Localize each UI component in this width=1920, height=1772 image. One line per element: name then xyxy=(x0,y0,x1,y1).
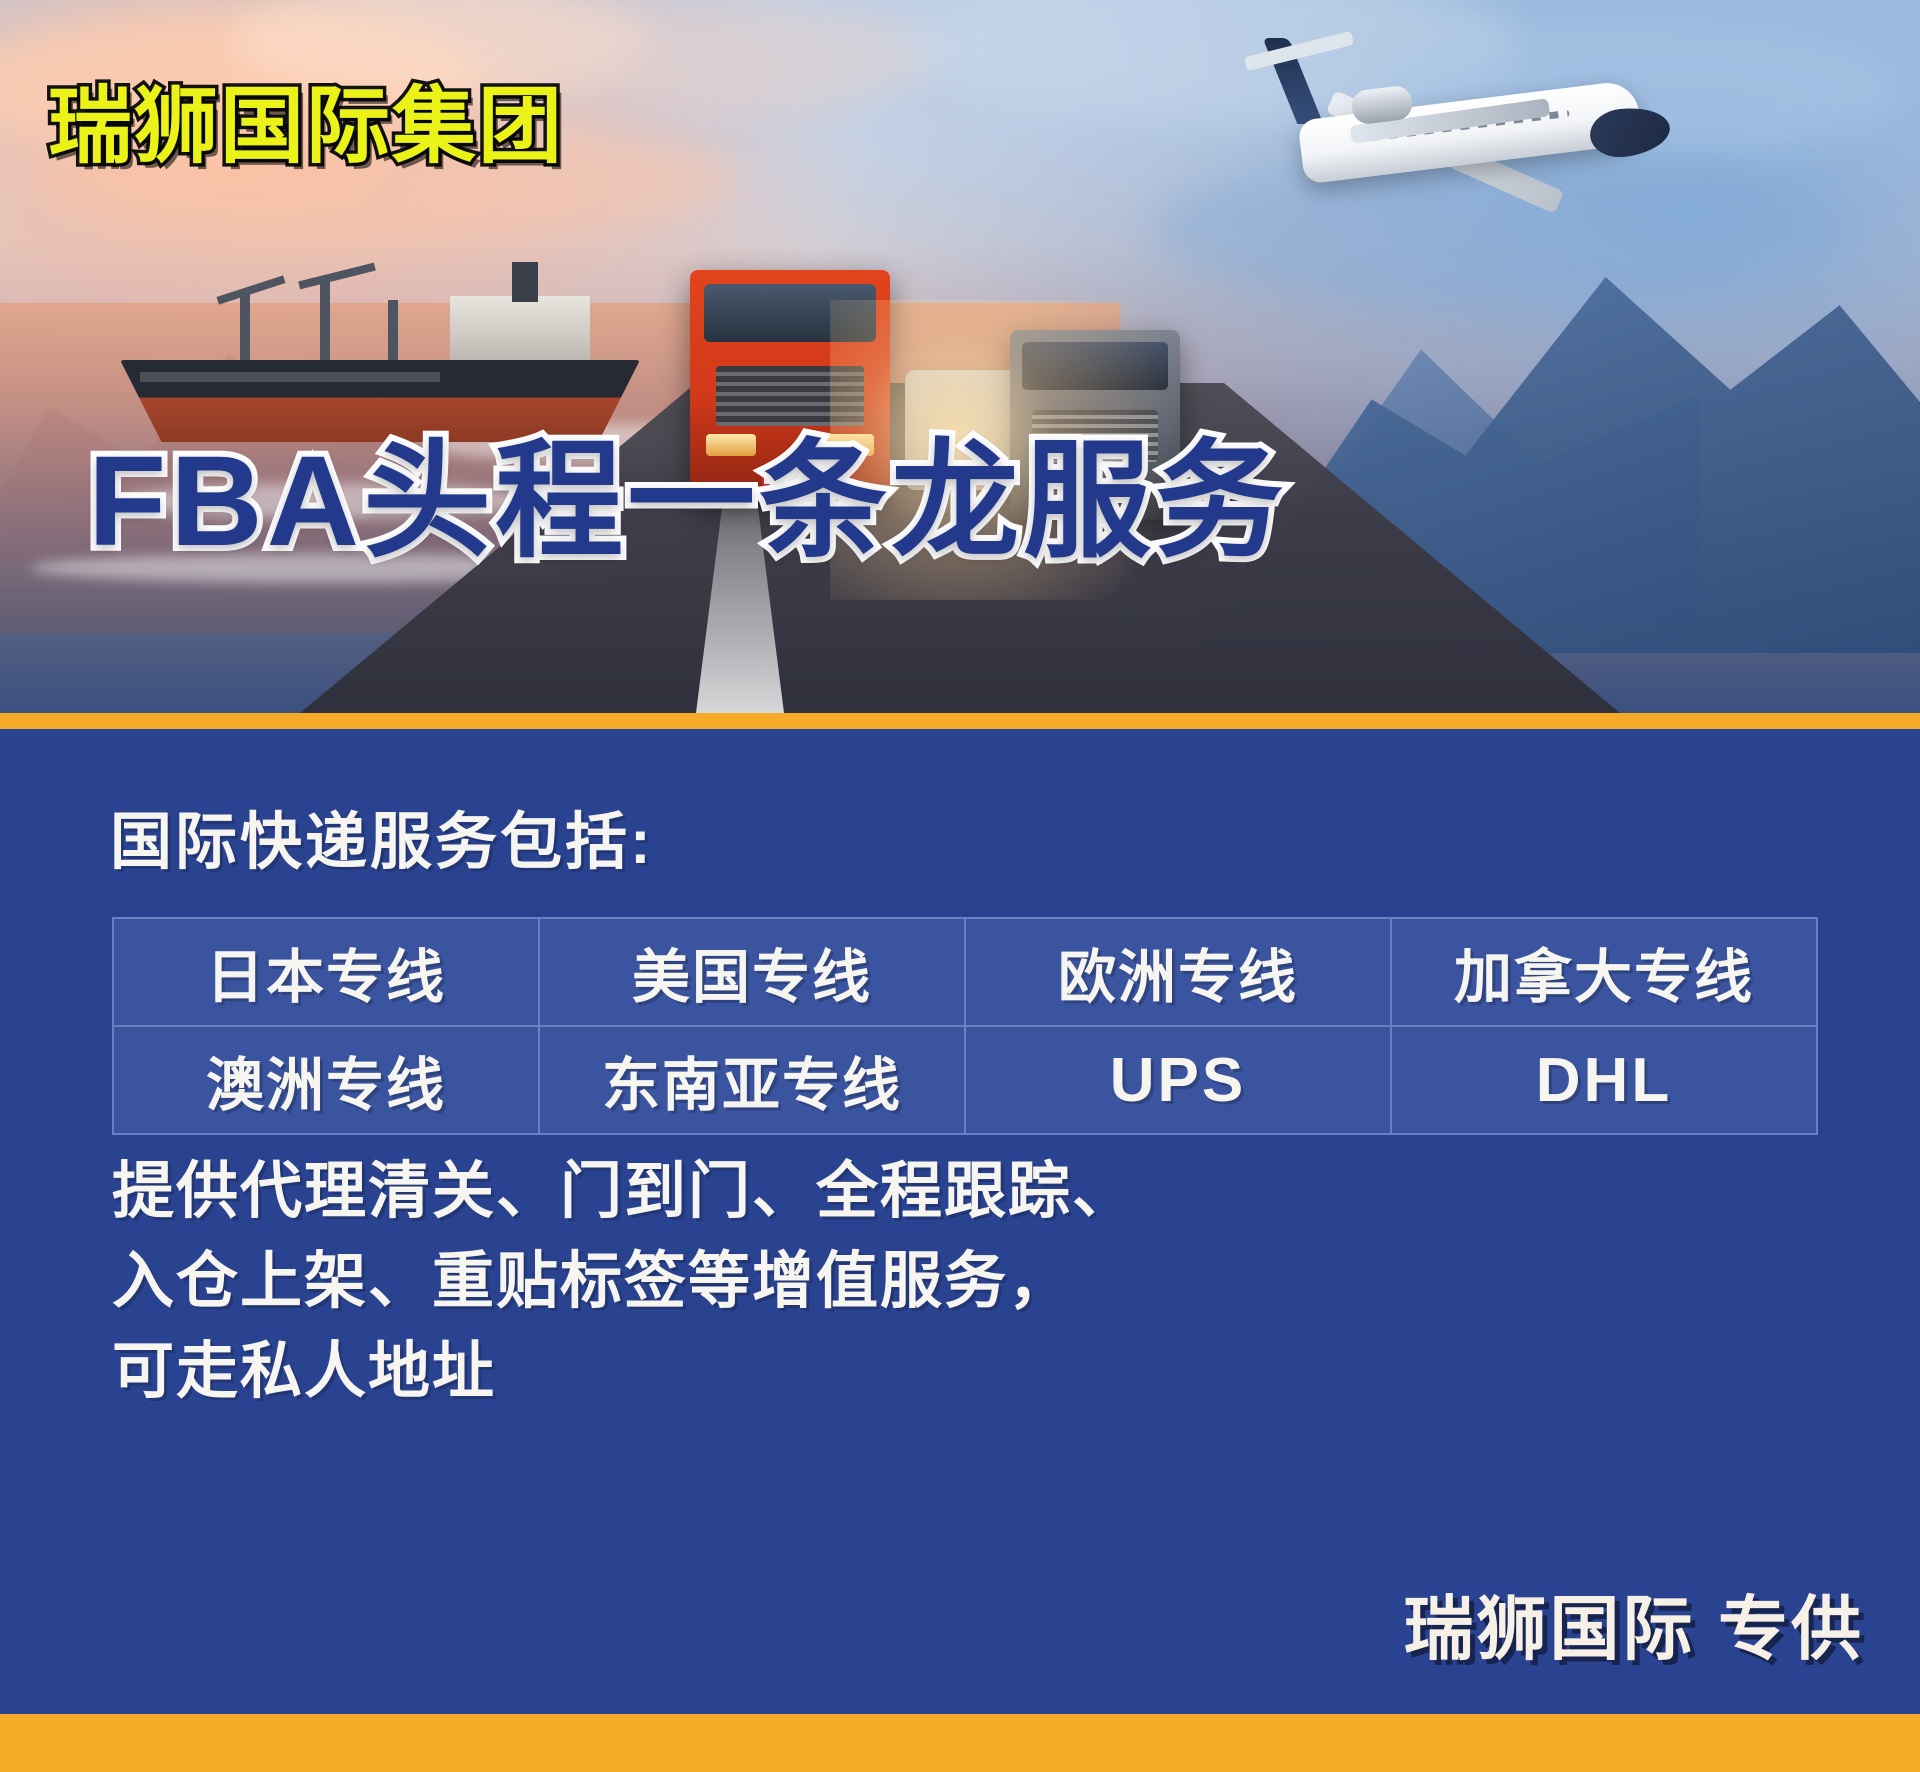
services-panel: 国际快递服务包括: 日本专线 美国专线 欧洲专线 加拿大专线 澳洲专线 东南亚专… xyxy=(0,729,1920,1714)
body-line-1: 提供代理清关、门到门、全程跟踪、 xyxy=(112,1147,1136,1237)
cargo-ship-icon xyxy=(120,250,640,450)
table-cell-dhl[interactable]: DHL xyxy=(1391,1026,1817,1134)
body-line-3: 可走私人地址 xyxy=(112,1327,1136,1417)
cloud-icon xyxy=(560,0,940,110)
table-cell-ups[interactable]: UPS xyxy=(965,1026,1391,1134)
table-cell-southeastasia[interactable]: 东南亚专线 xyxy=(539,1026,965,1134)
hero-banner-image: 瑞狮国际集团 FBA头程一条龙服务 xyxy=(0,0,1920,713)
top-accent-divider xyxy=(0,713,1920,729)
table-cell-usa[interactable]: 美国专线 xyxy=(539,918,965,1026)
value-added-services-copy: 提供代理清关、门到门、全程跟踪、 入仓上架、重贴标签等增值服务， 可走私人地址 xyxy=(112,1147,1136,1417)
company-brand-title: 瑞狮国际集团 xyxy=(48,84,564,168)
panel-signature: 瑞狮国际 专供 xyxy=(1404,1573,1864,1674)
table-cell-europe[interactable]: 欧洲专线 xyxy=(965,918,1391,1026)
table-row: 澳洲专线 东南亚专线 UPS DHL xyxy=(113,1026,1817,1134)
business-jet-icon xyxy=(1260,30,1680,230)
bottom-accent-bar xyxy=(0,1714,1920,1772)
table-row: 日本专线 美国专线 欧洲专线 加拿大专线 xyxy=(113,918,1817,1026)
services-table: 日本专线 美国专线 欧洲专线 加拿大专线 澳洲专线 东南亚专线 UPS DHL xyxy=(112,917,1818,1135)
hero-headline: FBA头程一条龙服务 xyxy=(88,438,1287,566)
body-line-2: 入仓上架、重贴标签等增值服务， xyxy=(112,1237,1136,1327)
table-cell-japan[interactable]: 日本专线 xyxy=(113,918,539,1026)
table-cell-canada[interactable]: 加拿大专线 xyxy=(1391,918,1817,1026)
poster-root: 瑞狮国际集团 FBA头程一条龙服务 国际快递服务包括: 日本专线 美国专线 欧洲… xyxy=(0,0,1920,1772)
panel-title: 国际快递服务包括: xyxy=(110,791,654,881)
table-cell-australia[interactable]: 澳洲专线 xyxy=(113,1026,539,1134)
